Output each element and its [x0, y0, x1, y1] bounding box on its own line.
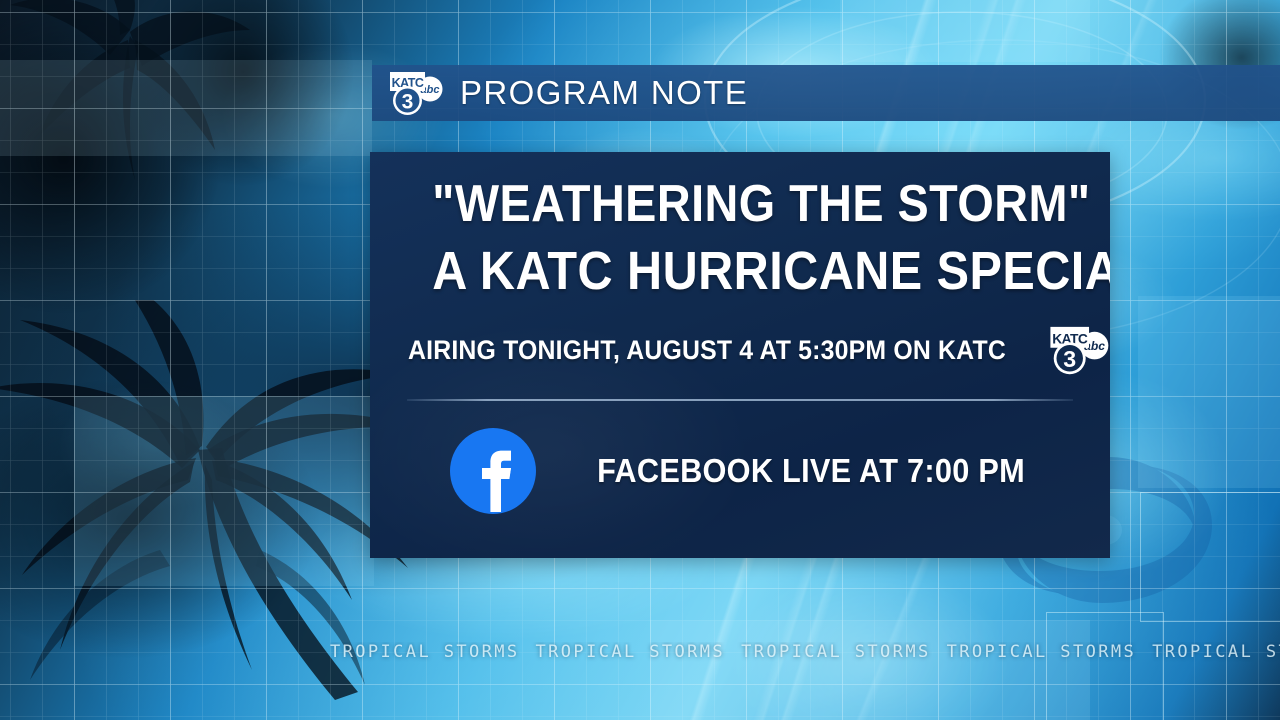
tropical-storms-ticker: TROPICAL STORMSTROPICAL STORMSTROPICAL S… [330, 642, 1280, 668]
special-title-line-1: "WEATHERING THE STORM" [432, 174, 1048, 235]
special-title-line-2: A KATC HURRICANE SPECIAL [432, 239, 1048, 305]
program-note-panel: "WEATHERING THE STORM" A KATC HURRICANE … [370, 152, 1110, 558]
facebook-live-label: FACEBOOK LIVE AT 7:00 PM [597, 452, 1025, 490]
header-title: PROGRAM NOTE [460, 74, 748, 112]
svg-text:3: 3 [402, 91, 414, 114]
airing-time-text: AIRING TONIGHT, AUGUST 4 AT 5:30PM ON KA… [408, 335, 1006, 366]
broadcast-graphic-stage: TROPICAL STORMSTROPICAL STORMSTROPICAL S… [0, 0, 1280, 720]
katc-3-abc-logo-icon-corner: abc KATC 3 [1046, 323, 1110, 377]
facebook-icon [449, 427, 537, 515]
panel-horizontal-divider-icon [407, 399, 1073, 401]
program-note-header-bar: abc KATC 3 PROGRAM NOTE [372, 65, 1280, 121]
title-block: "WEATHERING THE STORM" A KATC HURRICANE … [370, 152, 1110, 305]
facebook-live-row: FACEBOOK LIVE AT 7:00 PM [370, 427, 1110, 515]
airing-info-row: AIRING TONIGHT, AUGUST 4 AT 5:30PM ON KA… [370, 323, 1110, 377]
katc-3-abc-logo-icon: abc KATC 3 [386, 69, 444, 117]
svg-text:3: 3 [1063, 346, 1076, 372]
